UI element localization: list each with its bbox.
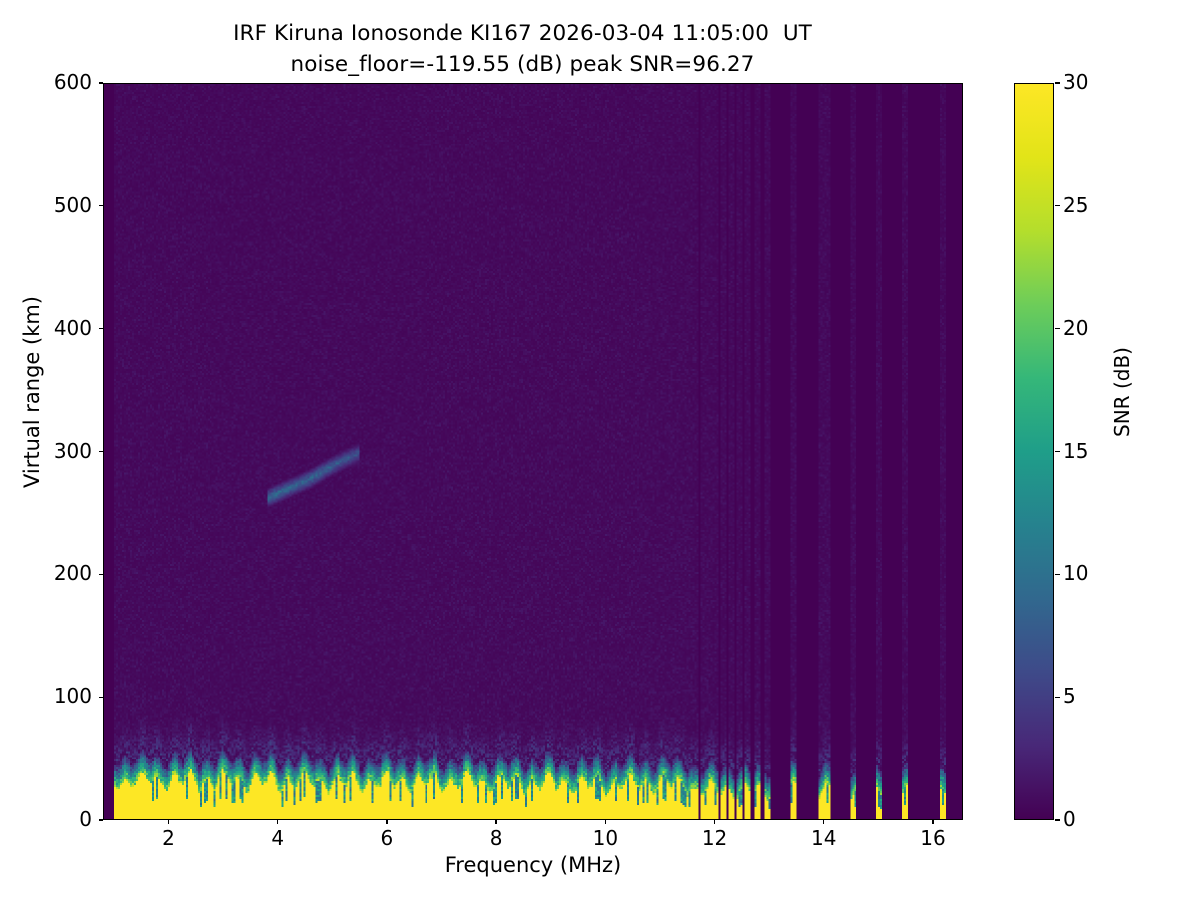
colorbar-tick-mark	[1055, 819, 1060, 820]
title-line-1: IRF Kiruna Ionosonde KI167 2026-03-04 11…	[0, 18, 1045, 49]
x-tick-mark	[495, 820, 496, 824]
colorbar-tick-mark	[1055, 205, 1060, 206]
y-tick-mark	[99, 819, 103, 820]
x-tick-label: 10	[575, 826, 635, 850]
colorbar-tick-label: 10	[1063, 561, 1088, 585]
y-tick-mark	[99, 205, 103, 206]
x-axis-label: Frequency (MHz)	[103, 853, 963, 877]
ionogram-heatmap	[104, 84, 962, 819]
y-axis-label: Virtual range (km)	[20, 272, 44, 512]
colorbar-tick-mark	[1055, 82, 1060, 83]
colorbar-label: SNR (dB)	[1110, 272, 1134, 512]
colorbar-tick-label: 30	[1063, 70, 1088, 94]
x-tick-mark	[277, 820, 278, 824]
y-tick-label: 400	[0, 316, 92, 340]
y-tick-label: 200	[0, 561, 92, 585]
colorbar	[1014, 83, 1054, 820]
y-tick-label: 500	[0, 193, 92, 217]
y-tick-label: 600	[0, 70, 92, 94]
y-tick-label: 300	[0, 439, 92, 463]
figure-title: IRF Kiruna Ionosonde KI167 2026-03-04 11…	[0, 18, 1045, 80]
colorbar-gradient	[1015, 84, 1053, 819]
x-tick-mark	[386, 820, 387, 824]
colorbar-tick-mark	[1055, 697, 1060, 698]
y-tick-mark	[99, 328, 103, 329]
x-tick-label: 14	[794, 826, 854, 850]
title-line-2: noise_floor=-119.55 (dB) peak SNR=96.27	[0, 49, 1045, 80]
colorbar-tick-label: 5	[1063, 684, 1076, 708]
x-tick-mark	[823, 820, 824, 824]
x-tick-mark	[605, 820, 606, 824]
colorbar-tick-mark	[1055, 451, 1060, 452]
colorbar-tick-label: 15	[1063, 439, 1088, 463]
y-tick-mark	[99, 697, 103, 698]
x-tick-mark	[714, 820, 715, 824]
y-tick-label: 100	[0, 684, 92, 708]
x-tick-label: 16	[903, 826, 963, 850]
plot-area	[103, 83, 963, 820]
y-tick-mark	[99, 574, 103, 575]
y-tick-mark	[99, 451, 103, 452]
x-tick-label: 4	[248, 826, 308, 850]
colorbar-tick-label: 20	[1063, 316, 1088, 340]
x-tick-label: 8	[466, 826, 526, 850]
colorbar-tick-mark	[1055, 328, 1060, 329]
x-tick-label: 6	[357, 826, 417, 850]
y-tick-mark	[99, 82, 103, 83]
x-tick-label: 2	[139, 826, 199, 850]
x-tick-mark	[168, 820, 169, 824]
x-tick-label: 12	[685, 826, 745, 850]
y-tick-label: 0	[0, 807, 92, 831]
colorbar-tick-label: 25	[1063, 193, 1088, 217]
ionogram-figure: IRF Kiruna Ionosonde KI167 2026-03-04 11…	[0, 0, 1200, 900]
x-tick-mark	[932, 820, 933, 824]
colorbar-tick-mark	[1055, 574, 1060, 575]
colorbar-tick-label: 0	[1063, 807, 1076, 831]
